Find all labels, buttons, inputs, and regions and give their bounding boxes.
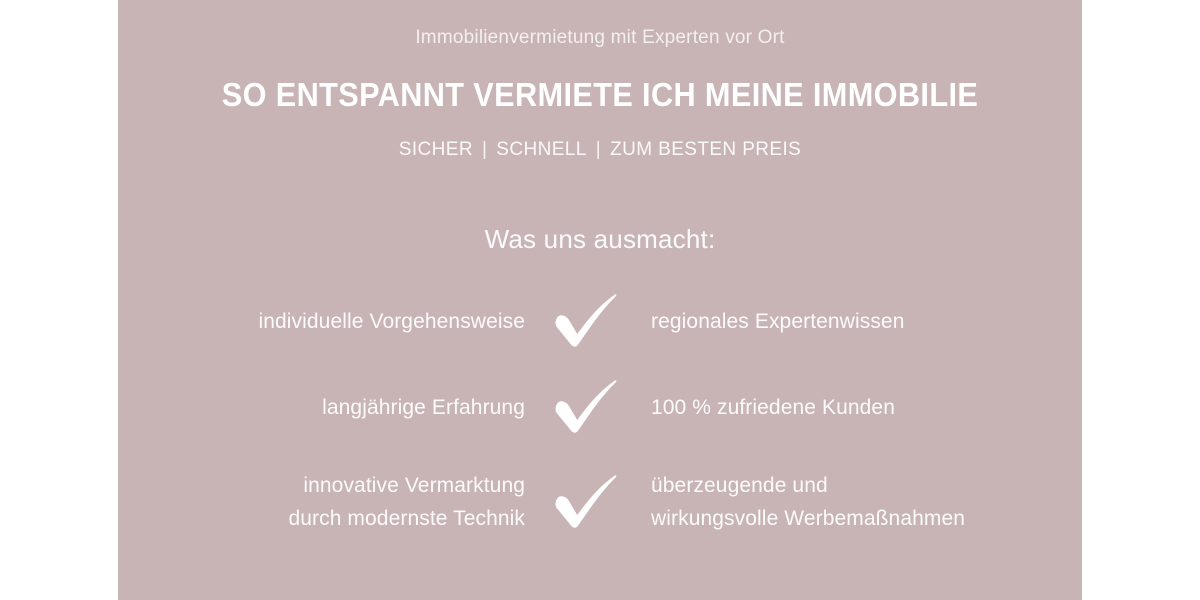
tagline-item-schnell: SCHNELL xyxy=(496,139,586,160)
tagline-item-preis: ZUM BESTEN PREIS xyxy=(610,139,801,160)
feature-list: individuelle Vorgehensweise regionales E… xyxy=(118,278,1082,554)
check-mark-icon xyxy=(537,294,633,348)
feature-right-line: regionales Expertenwissen xyxy=(651,305,1053,338)
promo-banner: Immobilienvermietung mit Experten vor Or… xyxy=(0,0,1200,600)
eyebrow-text: Immobilienvermietung mit Experten vor Or… xyxy=(118,25,1082,51)
feature-left-line: innovative Vermarktung xyxy=(147,469,525,502)
feature-left-text: individuelle Vorgehensweise xyxy=(147,305,537,338)
feature-right-text: regionales Expertenwissen xyxy=(633,305,1053,338)
feature-row: innovative Vermarktung durch modernste T… xyxy=(118,450,1082,554)
tagline-item-sicher: SICHER xyxy=(399,139,473,160)
feature-left-line: durch modernste Technik xyxy=(147,502,525,535)
feature-right-line: wirkungsvolle Werbemaßnahmen xyxy=(651,502,1053,535)
check-mark-icon xyxy=(537,475,633,529)
check-mark-icon xyxy=(537,380,633,434)
feature-row: langjährige Erfahrung 100 % zufriedene K… xyxy=(118,364,1082,450)
tagline-separator-2: | xyxy=(587,136,610,164)
tagline-separator-1: | xyxy=(473,136,496,164)
banner-panel: Immobilienvermietung mit Experten vor Or… xyxy=(118,0,1082,600)
feature-right-line: 100 % zufriedene Kunden xyxy=(651,391,1053,424)
section-heading: Was uns ausmacht: xyxy=(118,222,1082,256)
feature-left-text: innovative Vermarktung durch modernste T… xyxy=(147,469,537,535)
feature-right-text: überzeugende und wirkungsvolle Werbemaßn… xyxy=(633,469,1053,535)
feature-left-line: langjährige Erfahrung xyxy=(147,391,525,424)
feature-right-text: 100 % zufriedene Kunden xyxy=(633,391,1053,424)
tagline: SICHER|SCHNELL|ZUM BESTEN PREIS xyxy=(118,136,1082,164)
page-title: SO ENTSPANNT VERMIETE ICH MEINE IMMOBILI… xyxy=(152,75,1049,115)
feature-left-line: individuelle Vorgehensweise xyxy=(147,305,525,338)
feature-right-line: überzeugende und xyxy=(651,469,1053,502)
feature-left-text: langjährige Erfahrung xyxy=(147,391,537,424)
feature-row: individuelle Vorgehensweise regionales E… xyxy=(118,278,1082,364)
